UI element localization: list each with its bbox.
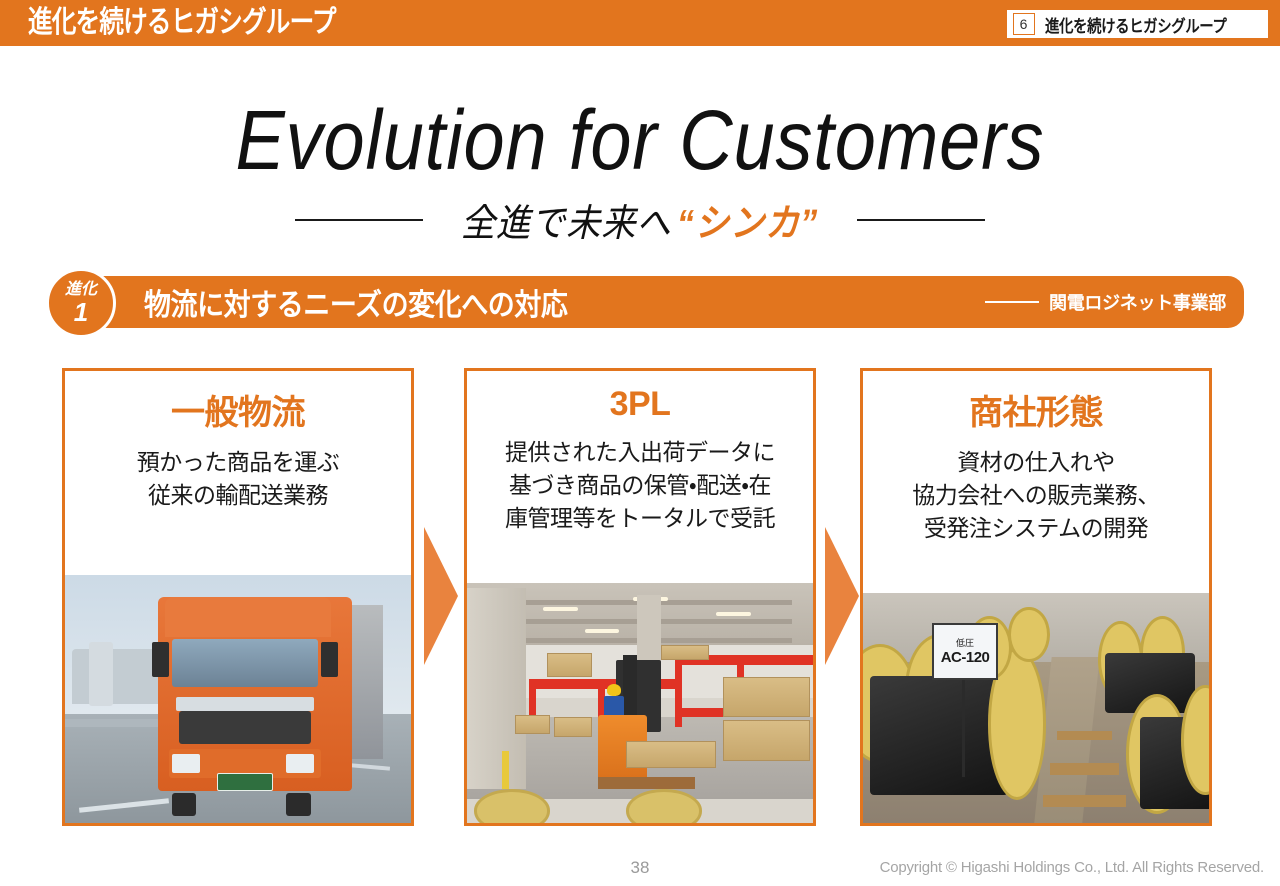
card-body: 提供された入出荷データに 基づき商品の保管・配送・在 庫管理等をトータルで受託 (467, 436, 813, 535)
ceiling-light (716, 612, 751, 616)
wooden-pallet (598, 777, 695, 789)
wooden-skid (1057, 731, 1112, 740)
flow-arrow-icon (825, 527, 859, 665)
subtitle-rule-left (295, 219, 423, 221)
wooden-skid (1043, 795, 1126, 807)
cardboard-box-on-fork (626, 741, 716, 767)
section-bar: 物流に対するニーズの変化への対応 関電ロジネット事業部 (82, 276, 1244, 328)
factory-tank-tall (89, 642, 113, 706)
header-title: 進化を続けるヒガシグループ (28, 5, 336, 41)
card-title: 3PL (467, 385, 813, 424)
subtitle-text: 全進で未来へ“シンカ” (461, 192, 818, 247)
truck-wheel-left (172, 793, 196, 815)
card-body-line: 庫管理等をトータルで受託 (475, 502, 805, 535)
truck-grille (179, 711, 310, 743)
cable-reel (474, 789, 550, 823)
subtitle-rule-right (857, 219, 985, 221)
truck-cab-roof (165, 597, 331, 637)
step-badge-number: 1 (74, 299, 88, 325)
ceiling-light (585, 629, 620, 633)
section-heading: 物流に対するニーズの変化への対応 (144, 280, 567, 324)
card-body: 預かった商品を運ぶ 従来の輸配送業務 (65, 446, 411, 512)
card-body-line: 資材の仕入れや (871, 446, 1201, 479)
factory-tank (72, 649, 162, 704)
truck-wheel-right (286, 793, 310, 815)
truck-photo-image (65, 575, 411, 823)
header-badge-number: 6 (1013, 13, 1035, 35)
ceiling-light (543, 607, 578, 611)
card-body-line: 預かった商品を運ぶ (73, 446, 403, 479)
truck-headlight-right (286, 754, 314, 774)
card-title: 商社形態 (863, 385, 1209, 434)
cable-drum (1008, 607, 1050, 662)
card-trading-company: 商社形態 資材の仕入れや 協力会社への販売業務、 受発注システムの開発 (860, 368, 1212, 826)
cable-reels-photo: 低圧 AC-120 (863, 593, 1209, 823)
card-body-line: 基づき商品の保管・配送・在 (475, 469, 805, 502)
header-badge: 6 進化を続けるヒガシグループ (1007, 10, 1268, 38)
flow-arrow-icon (424, 527, 458, 665)
step-badge: 進化 1 (46, 268, 116, 338)
cable-reels-photo-image: 低圧 AC-120 (863, 593, 1209, 823)
card-body-line: 協力会社への販売業務、 (871, 479, 1201, 512)
department-dash-icon (985, 301, 1039, 303)
sign-post (962, 680, 965, 777)
safety-post (502, 751, 509, 789)
section-department: 関電ロジネット事業部 (985, 289, 1226, 315)
cardboard-box (723, 720, 810, 761)
subtitle-plain: 全進で未来へ (461, 203, 672, 245)
concrete-column (467, 588, 526, 790)
cardboard-box (723, 677, 810, 718)
truck-photo (65, 575, 411, 823)
subtitle-row: 全進で未来へ“シンカ” (0, 192, 1280, 247)
truck-headlight-left (172, 754, 200, 774)
warehouse-photo-image (467, 583, 813, 823)
cardboard-box (515, 715, 550, 734)
truck-mirror-left (152, 642, 169, 677)
cable-label-sign: 低圧 AC-120 (932, 623, 998, 681)
worker-helmet (607, 684, 621, 696)
header-bar: 進化を続けるヒガシグループ 6 進化を続けるヒガシグループ (0, 0, 1280, 46)
slide-root: 進化を続けるヒガシグループ 6 進化を続けるヒガシグループ Evolution … (0, 0, 1280, 886)
wooden-pallet-stack (547, 653, 592, 677)
truck-license-plate (217, 773, 272, 790)
warehouse-photo (467, 583, 813, 823)
truck-mirror-right (321, 642, 338, 677)
sign-main-text: AC-120 (941, 649, 990, 666)
copyright-text: Copyright © Higashi Holdings Co., Ltd. A… (880, 859, 1264, 876)
main-title: Evolution for Customers (77, 92, 1203, 188)
department-label: 関電ロジネット事業部 (1049, 289, 1226, 315)
card-body-line: 受発注システムの開発 (871, 512, 1201, 545)
card-3pl: 3PL 提供された入出荷データに 基づき商品の保管・配送・在 庫管理等をトータル… (464, 368, 816, 826)
truck-windshield (172, 639, 317, 686)
card-body-line: 提供された入出荷データに (475, 436, 805, 469)
wooden-skid (1050, 763, 1119, 775)
header-badge-label: 進化を続けるヒガシグループ (1045, 12, 1226, 37)
card-body: 資材の仕入れや 協力会社への販売業務、 受発注システムの開発 (863, 446, 1209, 545)
sign-top-text: 低圧 (956, 638, 974, 649)
card-general-logistics: 一般物流 預かった商品を運ぶ 従来の輸配送業務 (62, 368, 414, 826)
subtitle-accent: “シンカ” (677, 203, 818, 245)
card-body-line: 従来の輸配送業務 (73, 479, 403, 512)
card-title: 一般物流 (65, 385, 411, 434)
cable-reel (626, 789, 702, 823)
cardboard-box (661, 645, 709, 659)
cardboard-box (554, 717, 592, 736)
truck-chrome-trim (176, 697, 314, 712)
